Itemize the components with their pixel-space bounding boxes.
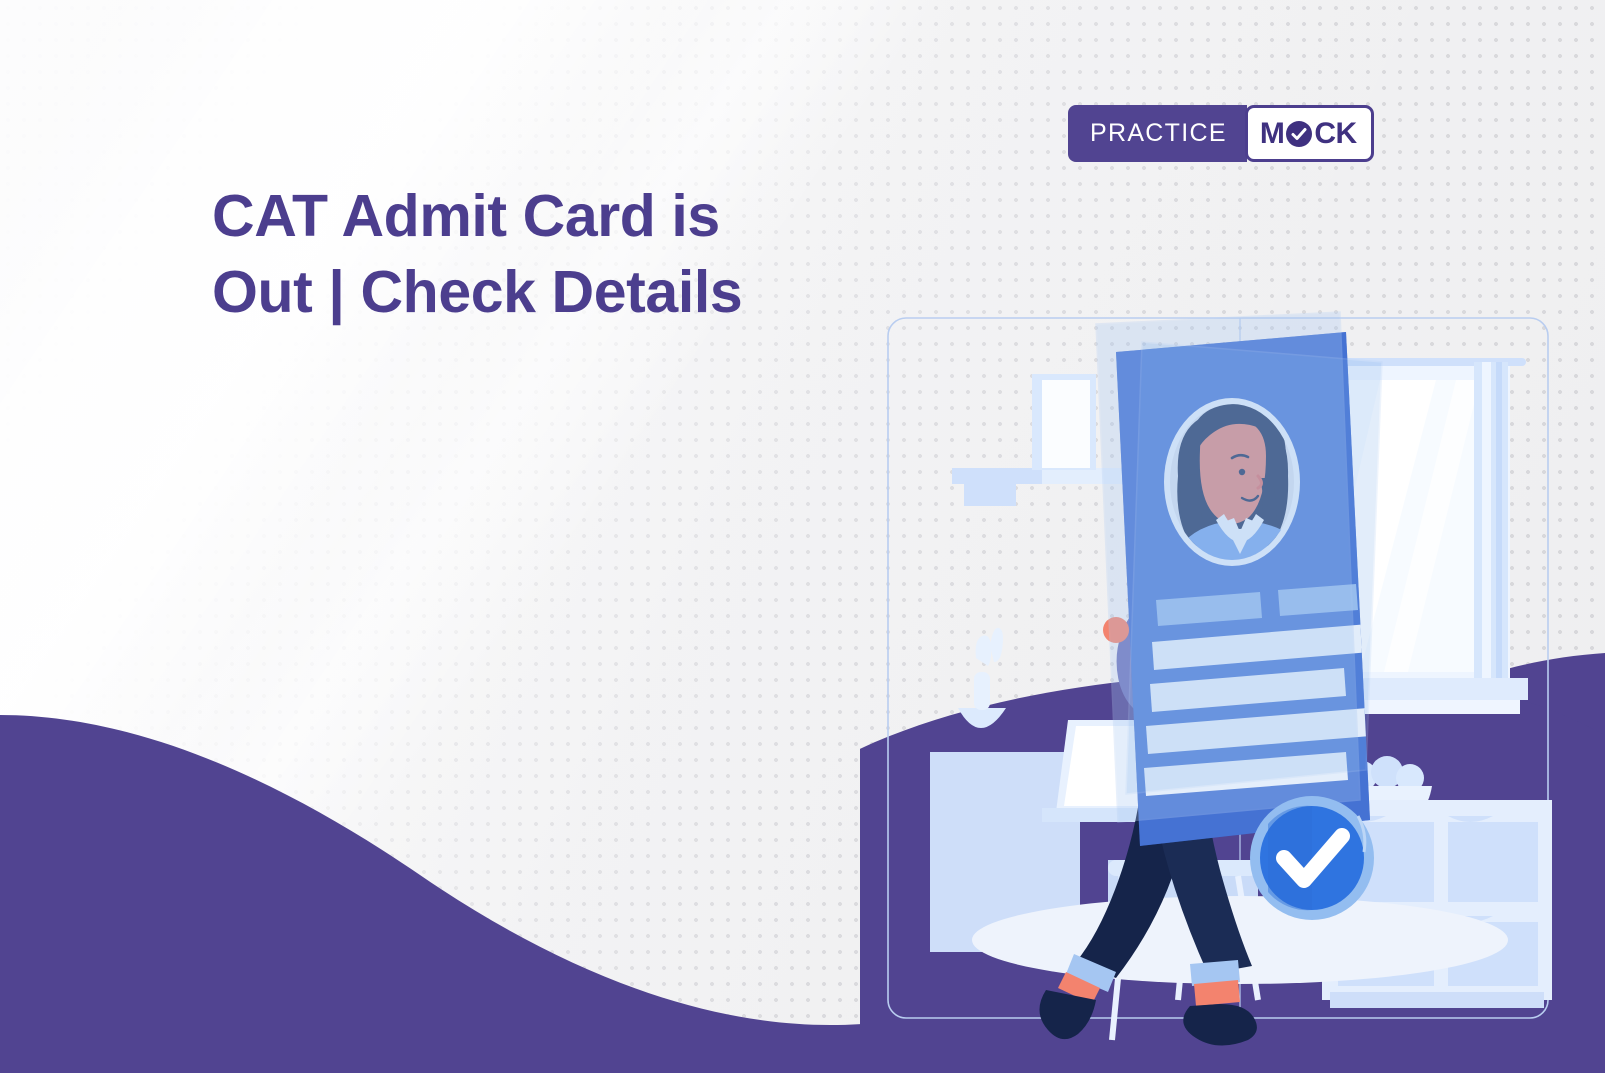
logo-mock-block: M CK xyxy=(1245,105,1374,162)
logo-practice-text: PRACTICE xyxy=(1090,119,1227,148)
banner-canvas: CAT Admit Card is Out | Check Details PR… xyxy=(0,0,1605,1073)
logo-mock-m: M xyxy=(1260,119,1285,149)
page-title: CAT Admit Card is Out | Check Details xyxy=(212,178,912,330)
admit-card xyxy=(1096,312,1382,846)
check-circle-icon xyxy=(1285,120,1313,148)
logo-practice-block: PRACTICE xyxy=(1068,105,1247,162)
practicemock-logo[interactable]: PRACTICE M CK xyxy=(1068,105,1374,162)
hero-illustration xyxy=(860,300,1605,1073)
verified-check-badge xyxy=(1250,796,1374,920)
logo-mock-ck: CK xyxy=(1314,119,1356,149)
glass-panel-overlay-2 xyxy=(1126,342,1382,794)
side-table-with-cactus xyxy=(930,628,1080,952)
